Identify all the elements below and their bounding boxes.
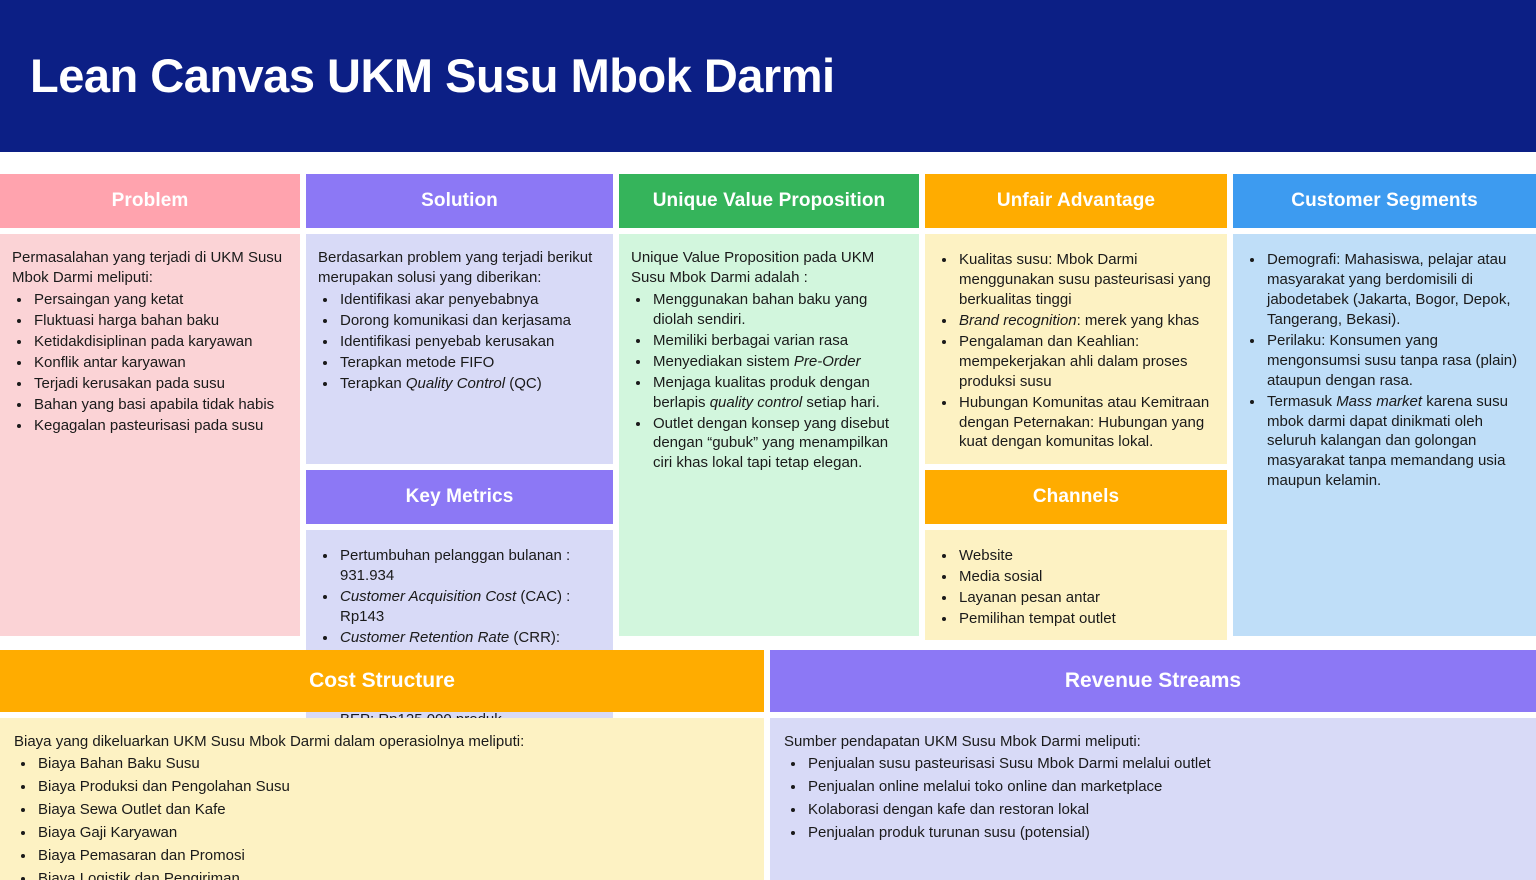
block-unfair-advantage-header: Unfair Advantage (925, 174, 1227, 228)
text-pre: Terapkan (340, 375, 406, 392)
list-item: Layanan pesan antar (957, 588, 1215, 608)
block-revenue-streams-intro: Sumber pendapatan UKM Susu Mbok Darmi me… (784, 732, 1522, 752)
page-title: Lean Canvas UKM Susu Mbok Darmi (0, 51, 835, 100)
list-item: Termasuk Mass market karena susu mbok da… (1265, 392, 1524, 492)
list-item: Hubungan Komunitas atau Kemitraan dengan… (957, 393, 1215, 453)
text-pre: Hubungan Komunitas atau Kemitraan dengan… (959, 394, 1209, 451)
block-uvp-body: Unique Value Proposition pada UKM Susu M… (619, 234, 919, 636)
list-item: Penjualan produk turunan susu (potensial… (806, 823, 1522, 843)
block-solution-body: Berdasarkan problem yang terjadi berikut… (306, 234, 613, 464)
block-uvp: Unique Value Proposition Unique Value Pr… (619, 174, 919, 636)
list-item: Outlet dengan konsep yang disebut dengan… (651, 414, 907, 474)
block-customer-segments-header: Customer Segments (1233, 174, 1536, 228)
text-pre: Demografi: Mahasiswa, pelajar atau masya… (1267, 251, 1511, 328)
canvas-upper-grid: Problem Permasalahan yang terjadi di UKM… (0, 174, 1536, 636)
block-channels-title: Channels (1033, 486, 1119, 508)
block-revenue-streams-body: Sumber pendapatan UKM Susu Mbok Darmi me… (770, 718, 1536, 880)
block-uvp-intro: Unique Value Proposition pada UKM Susu M… (631, 248, 907, 288)
canvas-lower-grid: Cost Structure Biaya yang dikeluarkan UK… (0, 650, 1536, 880)
list-item: Menjaga kualitas produk dengan berlapis … (651, 373, 907, 413)
block-solution: Solution Berdasarkan problem yang terjad… (306, 174, 613, 464)
block-solution-title: Solution (421, 190, 498, 212)
list-item: Biaya Sewa Outlet dan Kafe (36, 800, 750, 820)
text-pre: Memiliki berbagai varian rasa (653, 332, 848, 349)
block-customer-segments-body: Demografi: Mahasiswa, pelajar atau masya… (1233, 234, 1536, 636)
block-revenue-streams-list: Penjualan susu pasteurisasi Susu Mbok Da… (806, 754, 1522, 843)
list-item: Customer Acquisition Cost (CAC) : Rp143 (338, 587, 601, 627)
canvas-title-bar: Lean Canvas UKM Susu Mbok Darmi (0, 0, 1536, 152)
list-item: Konflik antar karyawan (32, 353, 288, 373)
text-italic: quality control (710, 394, 803, 411)
block-cost-structure-title: Cost Structure (309, 669, 455, 693)
block-problem-title: Problem (112, 190, 189, 212)
text-post: : merek yang khas (1077, 312, 1200, 329)
list-item: Penjualan online melalui toko online dan… (806, 777, 1522, 797)
block-channels: Channels Website Media sosial Layanan pe… (925, 470, 1227, 640)
list-item: Kolaborasi dengan kafe dan restoran loka… (806, 800, 1522, 820)
list-item: Dorong komunikasi dan kerjasama (338, 311, 601, 331)
list-item: Perilaku: Konsumen yang mengonsumsi susu… (1265, 331, 1524, 391)
block-revenue-streams-header: Revenue Streams (770, 650, 1536, 712)
text-italic: Customer Retention Rate (340, 629, 509, 646)
list-item: Identifikasi akar penyebabnya (338, 290, 601, 310)
text-pre: Pengalaman dan Keahlian: mempekerjakan a… (959, 333, 1187, 390)
list-item: Website (957, 546, 1215, 566)
block-problem: Problem Permasalahan yang terjadi di UKM… (0, 174, 300, 636)
block-key-metrics-title: Key Metrics (406, 486, 514, 508)
list-item: Biaya Bahan Baku Susu (36, 754, 750, 774)
list-item: Menggunakan bahan baku yang diolah sendi… (651, 290, 907, 330)
list-item: Terjadi kerusakan pada susu (32, 374, 288, 394)
list-item: Bahan yang basi apabila tidak habis (32, 395, 288, 415)
block-cost-structure-header: Cost Structure (0, 650, 764, 712)
list-item: Identifikasi penyebab kerusakan (338, 332, 601, 352)
list-item: Brand recognition: merek yang khas (957, 311, 1215, 331)
list-item: Pengalaman dan Keahlian: mempekerjakan a… (957, 332, 1215, 392)
lean-canvas: Lean Canvas UKM Susu Mbok Darmi Problem … (0, 0, 1536, 880)
list-item: Biaya Produksi dan Pengolahan Susu (36, 777, 750, 797)
block-uvp-title: Unique Value Proposition (653, 190, 886, 212)
list-item: Penjualan susu pasteurisasi Susu Mbok Da… (806, 754, 1522, 774)
block-channels-list: Website Media sosial Layanan pesan antar… (957, 546, 1215, 629)
list-item: Pemilihan tempat outlet (957, 609, 1215, 629)
block-problem-header: Problem (0, 174, 300, 228)
list-item: Menyediakan sistem Pre-Order (651, 352, 907, 372)
text-pre: Pertumbuhan pelanggan bulanan : 931.934 (340, 547, 570, 584)
block-problem-body: Permasalahan yang terjadi di UKM Susu Mb… (0, 234, 300, 636)
block-revenue-streams-title: Revenue Streams (1065, 669, 1241, 693)
block-cost-structure-list: Biaya Bahan Baku Susu Biaya Produksi dan… (36, 754, 750, 880)
text-italic: Customer Acquisition Cost (340, 588, 516, 605)
text-pre: Kualitas susu: Mbok Darmi menggunakan su… (959, 251, 1211, 308)
block-unfair-advantage-body: Kualitas susu: Mbok Darmi menggunakan su… (925, 234, 1227, 464)
text-italic: Quality Control (406, 375, 505, 392)
block-unfair-advantage: Unfair Advantage Kualitas susu: Mbok Dar… (925, 174, 1227, 464)
text-italic: Brand recognition (959, 312, 1077, 329)
text-pre: Outlet dengan konsep yang disebut dengan… (653, 415, 889, 472)
text-post: (QC) (505, 375, 542, 392)
block-key-metrics-header: Key Metrics (306, 470, 613, 524)
block-cost-structure: Cost Structure Biaya yang dikeluarkan UK… (0, 650, 764, 880)
list-item: Biaya Pemasaran dan Promosi (36, 846, 750, 866)
text-pre: Termasuk (1267, 393, 1336, 410)
list-item: Biaya Logistik dan Pengiriman (36, 869, 750, 880)
list-item: Fluktuasi harga bahan baku (32, 311, 288, 331)
text-pre: Perilaku: Konsumen yang mengonsumsi susu… (1267, 332, 1517, 389)
block-revenue-streams: Revenue Streams Sumber pendapatan UKM Su… (770, 650, 1536, 880)
list-item: Media sosial (957, 567, 1215, 587)
text-pre: Menggunakan bahan baku yang diolah sendi… (653, 291, 867, 328)
text-pre: Menyediakan sistem (653, 353, 794, 370)
block-channels-body: Website Media sosial Layanan pesan antar… (925, 530, 1227, 640)
list-item: Ketidakdisiplinan pada karyawan (32, 332, 288, 352)
block-cost-structure-intro: Biaya yang dikeluarkan UKM Susu Mbok Dar… (14, 732, 750, 752)
block-uvp-header: Unique Value Proposition (619, 174, 919, 228)
list-item: Demografi: Mahasiswa, pelajar atau masya… (1265, 250, 1524, 330)
list-item: Memiliki berbagai varian rasa (651, 331, 907, 351)
block-problem-list: Persaingan yang ketat Fluktuasi harga ba… (32, 290, 288, 436)
block-unfair-advantage-title: Unfair Advantage (997, 190, 1155, 212)
list-item: Terapkan metode FIFO (338, 353, 601, 373)
block-solution-intro: Berdasarkan problem yang terjadi berikut… (318, 248, 601, 288)
block-solution-list: Identifikasi akar penyebabnya Dorong kom… (338, 290, 601, 394)
list-item: Terapkan Quality Control (QC) (338, 374, 601, 394)
list-item: Kegagalan pasteurisasi pada susu (32, 416, 288, 436)
list-item: Kualitas susu: Mbok Darmi menggunakan su… (957, 250, 1215, 310)
block-unfair-advantage-column: Unfair Advantage Kualitas susu: Mbok Dar… (925, 174, 1227, 636)
text-italic: Mass market (1336, 393, 1422, 410)
block-customer-segments-title: Customer Segments (1291, 190, 1477, 212)
list-item: Persaingan yang ketat (32, 290, 288, 310)
block-solution-column: Solution Berdasarkan problem yang terjad… (306, 174, 613, 636)
block-customer-segments-list: Demografi: Mahasiswa, pelajar atau masya… (1265, 250, 1524, 491)
block-unfair-advantage-list: Kualitas susu: Mbok Darmi menggunakan su… (957, 250, 1215, 452)
text-post: setiap hari. (802, 394, 880, 411)
list-item: Pertumbuhan pelanggan bulanan : 931.934 (338, 546, 601, 586)
block-customer-segments: Customer Segments Demografi: Mahasiswa, … (1233, 174, 1536, 636)
block-solution-header: Solution (306, 174, 613, 228)
block-cost-structure-body: Biaya yang dikeluarkan UKM Susu Mbok Dar… (0, 718, 764, 880)
block-uvp-list: Menggunakan bahan baku yang diolah sendi… (651, 290, 907, 473)
list-item: Biaya Gaji Karyawan (36, 823, 750, 843)
block-channels-header: Channels (925, 470, 1227, 524)
text-italic: Pre-Order (794, 353, 861, 370)
block-problem-intro: Permasalahan yang terjadi di UKM Susu Mb… (12, 248, 288, 288)
